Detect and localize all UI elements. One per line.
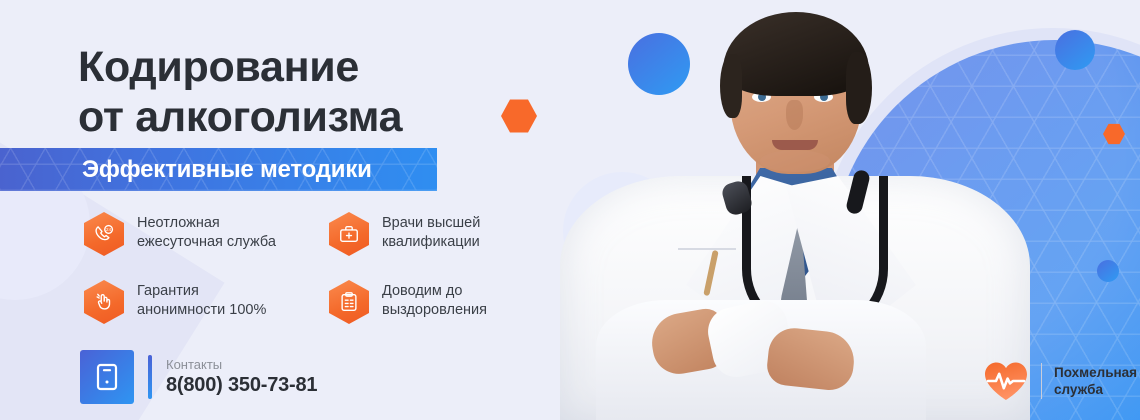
doctor-hair-side-right bbox=[846, 52, 872, 124]
doctor-photo bbox=[560, 0, 1030, 420]
phone-24-icon: 24 bbox=[84, 212, 124, 256]
feature-text: Врачи высшей квалификации bbox=[382, 212, 480, 252]
feature-text: Доводим до выздоровления bbox=[382, 280, 487, 320]
subtitle-text: Эффективные методики bbox=[82, 156, 372, 184]
feature-item-emergency: 24 Неотложная ежесуточная служба bbox=[84, 212, 329, 256]
feature-item-anonymity: Гарантия анонимности 100% bbox=[84, 280, 329, 324]
logo-divider bbox=[1041, 363, 1042, 399]
feature-item-recovery: Доводим до выздоровления bbox=[329, 280, 574, 324]
doctor-chin bbox=[760, 150, 830, 172]
medical-bag-icon bbox=[329, 212, 369, 256]
brand-logo[interactable]: Похмельная служба bbox=[983, 360, 1137, 402]
promo-banner: Кодирование от алкоголизма Эффективные м… bbox=[0, 0, 1140, 420]
feature-line-1: Врачи высшей bbox=[382, 215, 480, 231]
feature-line-1: Неотложная bbox=[137, 215, 220, 231]
contacts-block[interactable]: Контакты 8(800) 350-73-81 bbox=[80, 350, 317, 404]
feature-line-2: анонимности 100% bbox=[137, 302, 266, 318]
feature-text: Гарантия анонимности 100% bbox=[137, 280, 266, 320]
hand-secret-icon bbox=[84, 280, 124, 324]
logo-text: Похмельная служба bbox=[1054, 364, 1137, 398]
feature-line-1: Гарантия bbox=[137, 283, 199, 299]
contacts-text: Контакты 8(800) 350-73-81 bbox=[166, 357, 317, 397]
page-title: Кодирование от алкоголизма bbox=[78, 42, 548, 142]
feature-item-doctors: Врачи высшей квалификации bbox=[329, 212, 574, 256]
subtitle-ribbon: Эффективные методики bbox=[0, 148, 437, 191]
doctor-coat-pocket bbox=[678, 248, 736, 250]
contacts-phone-number[interactable]: 8(800) 350-73-81 bbox=[166, 374, 317, 397]
svg-text:24: 24 bbox=[106, 227, 112, 232]
clipboard-icon bbox=[329, 280, 369, 324]
blue-circle-decor-corner bbox=[1055, 30, 1095, 70]
contacts-divider bbox=[148, 355, 152, 399]
feature-line-1: Доводим до bbox=[382, 283, 462, 299]
contacts-label: Контакты bbox=[166, 357, 317, 372]
headline-line-1: Кодирование bbox=[78, 43, 359, 91]
feature-list: 24 Неотложная ежесуточная служба Врачи в… bbox=[84, 212, 574, 324]
doctor-nose bbox=[786, 100, 803, 130]
doctor-mouth bbox=[772, 140, 818, 150]
feature-text: Неотложная ежесуточная служба bbox=[137, 212, 276, 252]
mobile-phone-icon bbox=[80, 350, 134, 404]
feature-line-2: выздоровления bbox=[382, 302, 487, 318]
feature-line-2: ежесуточная служба bbox=[137, 234, 276, 250]
feature-line-2: квалификации bbox=[382, 234, 480, 250]
headline-line-2: от алкоголизма bbox=[78, 92, 548, 142]
logo-line-2: служба bbox=[1054, 382, 1103, 397]
blue-circle-decor-right bbox=[1097, 260, 1119, 282]
heart-pulse-icon bbox=[983, 360, 1029, 402]
doctor-hair-side-left bbox=[720, 54, 742, 118]
logo-line-1: Похмельная bbox=[1054, 365, 1137, 380]
